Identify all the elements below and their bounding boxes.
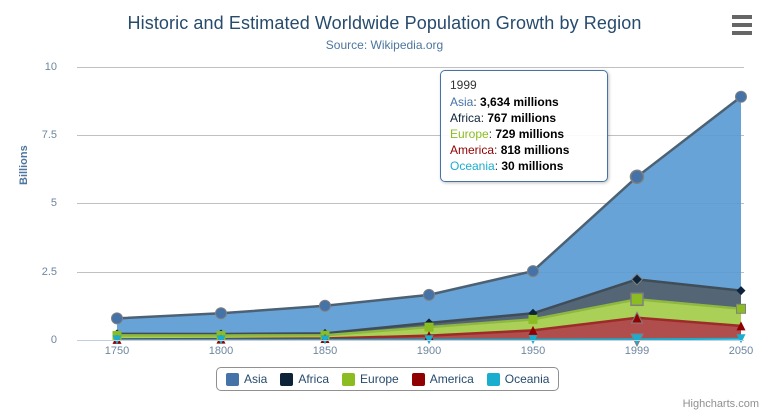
legend-swatch-europe <box>342 373 355 386</box>
x-tick-1850: 1850 <box>295 345 355 357</box>
tooltip-sep-america: : <box>494 143 501 157</box>
y-tick-0: 0 <box>0 334 57 346</box>
legend-item-africa[interactable]: Africa <box>280 372 329 386</box>
legend-label-oceania: Oceania <box>505 372 550 386</box>
legend-label-america: America <box>430 372 474 386</box>
tooltip-header: 1999 <box>450 77 598 93</box>
x-tick-1999: 1999 <box>607 345 667 357</box>
legend-item-oceania[interactable]: Oceania <box>487 372 550 386</box>
legend-item-asia[interactable]: Asia <box>226 372 267 386</box>
tooltip-value-oceania: 30 millions <box>501 159 563 173</box>
tooltip-row-america: America: 818 millions <box>450 142 598 158</box>
legend-swatch-oceania <box>487 373 500 386</box>
x-tick-1750: 1750 <box>87 345 147 357</box>
tooltip-value-america: 818 millions <box>501 143 570 157</box>
tooltip-value-europe: 729 millions <box>495 127 564 141</box>
hamburger-menu-icon[interactable] <box>728 13 756 37</box>
page-title: Historic and Estimated Worldwide Populat… <box>0 13 769 34</box>
y-tick-5: 5 <box>0 197 57 209</box>
tooltip-name-oceania: Oceania <box>450 159 495 173</box>
x-axis-line <box>77 340 744 341</box>
tooltip-row-africa: Africa: 767 millions <box>450 110 598 126</box>
menu-bar-2 <box>732 23 752 27</box>
series-tooltip: 1999 Asia: 3,634 millions Africa: 767 mi… <box>440 70 608 182</box>
x-tick-1950: 1950 <box>503 345 563 357</box>
chart-subtitle: Source: Wikipedia.org <box>0 38 769 52</box>
legend-item-europe[interactable]: Europe <box>342 372 399 386</box>
legend-label-africa: Africa <box>298 372 329 386</box>
legend-item-america[interactable]: America <box>412 372 474 386</box>
legend-swatch-africa <box>280 373 293 386</box>
tooltip-row-asia: Asia: 3,634 millions <box>450 94 598 110</box>
tooltip-value-africa: 767 millions <box>487 111 556 125</box>
legend-swatch-asia <box>226 373 239 386</box>
menu-bar-3 <box>732 31 752 35</box>
tooltip-row-europe: Europe: 729 millions <box>450 126 598 142</box>
legend-swatch-america <box>412 373 425 386</box>
x-tick-2050: 2050 <box>711 345 769 357</box>
tooltip-value-asia: 3,634 millions <box>480 95 559 109</box>
y-tick-7-5: 7.5 <box>0 129 57 141</box>
highcharts-container: Historic and Estimated Worldwide Populat… <box>0 0 769 416</box>
tooltip-name-asia: Asia <box>450 95 473 109</box>
chart-legend: Asia Africa Europe America Oceania <box>216 367 559 391</box>
x-tick-1800: 1800 <box>191 345 251 357</box>
plot-area <box>77 67 744 340</box>
tooltip-row-oceania: Oceania: 30 millions <box>450 158 598 174</box>
y-axis-title: Billions <box>18 145 30 185</box>
y-tick-2-5: 2.5 <box>0 266 57 278</box>
credits-link[interactable]: Highcharts.com <box>683 398 759 410</box>
tooltip-name-america: America <box>450 143 494 157</box>
tooltip-name-africa: Africa <box>450 111 481 125</box>
series-layer <box>77 67 744 340</box>
y-tick-10: 10 <box>0 61 57 73</box>
menu-bar-1 <box>732 15 752 19</box>
tooltip-sep-asia: : <box>473 95 480 109</box>
legend-label-europe: Europe <box>360 372 399 386</box>
legend-label-asia: Asia <box>244 372 267 386</box>
tooltip-name-europe: Europe <box>450 127 489 141</box>
x-tick-1900: 1900 <box>399 345 459 357</box>
